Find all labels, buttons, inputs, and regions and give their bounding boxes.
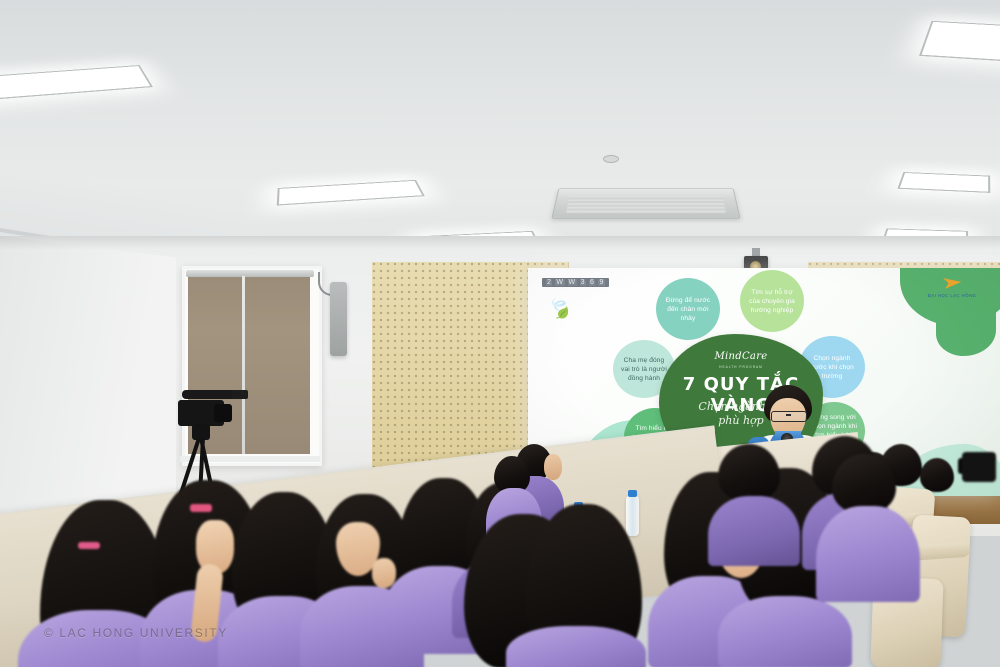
camera-viewfinder — [232, 390, 248, 399]
hair-clip-icon — [190, 504, 212, 512]
camera-body — [962, 452, 996, 482]
person-head — [718, 444, 780, 502]
person-shirt — [708, 496, 800, 566]
person-shirt — [816, 506, 920, 602]
camera-handle — [182, 390, 236, 399]
person-shirt — [506, 626, 646, 667]
photo-scene: 🍃 🌱 2 W W 3 6 9 ➤ ĐẠI HỌC LẠC HỒNG Đừng … — [0, 0, 1000, 667]
watermark: © LAC HONG UNIVERSITY — [44, 626, 228, 640]
person-shirt — [718, 596, 852, 667]
audience-foreground-right — [540, 440, 1000, 667]
person-head — [832, 454, 896, 514]
hair-clip-icon — [78, 542, 100, 549]
camera-lens-icon — [214, 404, 232, 422]
